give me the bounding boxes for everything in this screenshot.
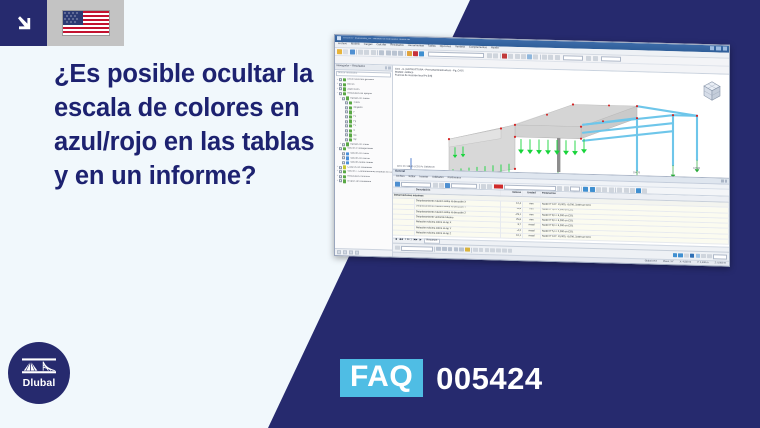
results-table-panel: General Archivo Editar Insertar Utilidad… — [393, 169, 729, 252]
status-icon-line6[interactable] — [502, 248, 507, 253]
poster-canvas: ¿Es posible ocultar la escala de colores… — [0, 0, 760, 428]
tree-item-icon — [346, 143, 349, 146]
results-grid[interactable]: DescripciónValoresUnidadParámetrosDeform… — [393, 188, 729, 247]
table-icon-print[interactable] — [617, 187, 622, 192]
menu-item-ventana[interactable]: Ventana — [455, 46, 465, 49]
toolbar-separator — [377, 50, 378, 55]
table-icon-results-type[interactable] — [395, 181, 400, 186]
status-coord-y: Y: 2,400 m — [697, 262, 708, 265]
status-icon-ortho[interactable] — [448, 247, 453, 252]
table-icon-last[interactable] — [487, 184, 492, 189]
table-cell[interactable] — [393, 215, 415, 220]
table-menu-parametros[interactable]: Parámetros — [448, 177, 461, 180]
toolbar-icon-snap[interactable] — [386, 50, 391, 55]
table-cell[interactable]: 3,7 — [501, 223, 523, 228]
menu-item-complementos[interactable]: Complementos — [469, 46, 487, 49]
tree-item-icon — [349, 138, 352, 141]
toolbar-icon-save[interactable] — [350, 49, 355, 54]
status-icon-line5[interactable] — [496, 248, 501, 253]
table-cell[interactable]: 12,4 — [501, 202, 523, 207]
tree-checkbox[interactable] — [339, 147, 342, 150]
tab-model-icon[interactable] — [337, 250, 342, 255]
tree-item-icon — [349, 111, 352, 114]
menu-item-herramientas[interactable]: Herramientas — [408, 45, 424, 48]
status-icon-line3[interactable] — [485, 248, 490, 253]
tree-checkbox[interactable] — [345, 138, 348, 141]
tab-results-icon[interactable] — [349, 250, 354, 255]
pager-position: 1 de 1 — [405, 239, 412, 242]
toolbar-icon-sections[interactable] — [527, 54, 532, 59]
toolbar-icon-zoom-in[interactable] — [542, 54, 547, 59]
tree-item-label: P — [353, 111, 355, 114]
tab-views-icon[interactable] — [355, 250, 360, 255]
tree-item-label: Valores en nudos — [350, 152, 369, 155]
table-load-case-badge[interactable] — [494, 184, 503, 189]
navigator-panel-controls[interactable] — [385, 66, 391, 69]
navigator-tree-item[interactable]: +Grupos de resultados — [336, 179, 392, 185]
status-plane: Plano: XY — [663, 261, 674, 264]
status-icon-render2[interactable] — [678, 253, 683, 258]
table-cell[interactable]: mrad — [523, 224, 541, 229]
arrow-down-right-badge — [0, 0, 47, 46]
tree-checkbox[interactable] — [339, 92, 342, 95]
tree-item-label: Grupos de resultados — [347, 180, 371, 183]
tree-item-icon — [349, 101, 352, 104]
navigator-footer-tabs[interactable] — [335, 248, 392, 257]
load-case-combo[interactable] — [428, 51, 484, 58]
status-icon-guides[interactable] — [459, 247, 464, 252]
tree-checkbox[interactable] — [345, 129, 348, 132]
column-header[interactable]: Unidad — [523, 191, 541, 196]
toolbar-separator — [405, 51, 406, 56]
pager-next[interactable]: ▶▶ — [414, 240, 418, 243]
tree-item-icon — [349, 120, 352, 123]
table-factor-input[interactable] — [570, 186, 580, 191]
badge-row — [0, 0, 124, 46]
tree-item-label: M — [353, 130, 355, 133]
window-controls[interactable] — [710, 46, 728, 50]
flag-usa-icon — [62, 10, 110, 36]
tree-checkbox[interactable] — [342, 161, 345, 164]
table-cell[interactable]: mm — [523, 218, 541, 223]
tree-item-label: Apoyos en nudos — [350, 97, 369, 100]
table-icon-sort[interactable] — [596, 187, 601, 192]
close-button[interactable] — [723, 47, 728, 51]
workspace: Navegador – Resultados Buscar resultados… — [335, 64, 729, 266]
tree-item-icon — [343, 170, 346, 173]
table-cell[interactable] — [393, 225, 415, 230]
toolbar-separator — [581, 186, 582, 191]
faq-identifier: FAQ 005424 — [340, 359, 543, 397]
table-icon-columns[interactable] — [602, 187, 607, 192]
column-header[interactable]: Valores — [501, 191, 523, 197]
tree-item-label: Apoyos en líneas — [350, 143, 369, 146]
tree-checkbox[interactable] — [345, 111, 348, 114]
tab-loads-icon[interactable] — [343, 250, 348, 255]
tree-checkbox[interactable] — [342, 97, 345, 100]
view-cube-icon[interactable] — [699, 78, 725, 106]
table-icon-delete[interactable] — [630, 188, 635, 193]
tree-item-label: Todos — [353, 102, 360, 105]
tree-checkbox[interactable] — [339, 78, 342, 81]
toolbar-icon-color-scale[interactable] — [515, 54, 520, 59]
toolbar-separator — [434, 246, 435, 251]
toolbar-icon-results[interactable] — [413, 51, 418, 56]
tree-checkbox[interactable] — [345, 115, 348, 118]
status-icon-line2[interactable] — [479, 248, 484, 253]
table-menu-archivo[interactable]: Archivo — [396, 176, 405, 179]
tree-item-icon — [349, 115, 352, 118]
coordinate-system-combo[interactable] — [401, 245, 433, 251]
tree-item-icon — [349, 124, 352, 127]
tree-item-label: Mx — [353, 134, 356, 137]
tree-checkbox[interactable] — [339, 88, 342, 91]
menu-item-tablas[interactable]: Tablas — [428, 45, 436, 48]
toolbar-separator — [540, 54, 541, 59]
language-flag-badge[interactable] — [47, 0, 124, 46]
pager-first[interactable]: ◀ — [395, 239, 397, 242]
software-screenshot: RFEM 6 - Estructura_01 - Modelo de estru… — [334, 34, 730, 267]
table-cell[interactable] — [393, 204, 415, 209]
table-cell[interactable] — [393, 220, 415, 225]
column-header[interactable] — [393, 188, 415, 194]
status-icon-line1[interactable] — [473, 247, 478, 252]
status-icon-render3[interactable] — [684, 253, 689, 258]
table-cell[interactable]: mm — [523, 202, 541, 207]
tree-item-icon — [346, 161, 349, 164]
table-group-combo[interactable] — [451, 183, 477, 189]
toolbar-icon-zoom-fit[interactable] — [555, 55, 560, 60]
table-icon-export[interactable] — [609, 187, 614, 192]
table-icon-case-next[interactable] — [564, 186, 569, 191]
table-cell[interactable]: mm — [523, 208, 541, 213]
toolbar-icon-prev-case[interactable] — [487, 53, 492, 58]
tree-item-icon — [343, 166, 346, 169]
status-icon-render7[interactable] — [707, 254, 712, 259]
result-label-2: 104,75 — [633, 172, 640, 175]
status-coord-x: X: 4,500 m — [680, 261, 692, 264]
status-cs-label: Global XYZ — [645, 260, 657, 263]
tree-item-icon — [349, 106, 352, 109]
status-icon-objsnap[interactable] — [454, 247, 459, 252]
navigator-tree[interactable]: +Deformaciones globales+Barras+Superfici… — [335, 77, 392, 250]
tree-item-label: Superficies — [347, 88, 359, 91]
maximize-button[interactable] — [716, 47, 721, 51]
menu-item-cargas[interactable]: Cargas — [364, 43, 373, 46]
model-viewport[interactable]: CO1 - G | ESTRUCTURA - Permanente/estruc… — [393, 66, 729, 178]
tree-checkbox[interactable] — [339, 179, 342, 182]
tree-item-icon — [343, 175, 346, 178]
tree-item-icon — [343, 179, 346, 182]
pin-icon[interactable] — [721, 179, 724, 182]
status-icon-line4[interactable] — [490, 248, 495, 253]
status-coord-z: Z: 0,000 m — [715, 262, 726, 265]
tree-checkbox[interactable] — [342, 157, 345, 160]
table-icon-group[interactable] — [445, 183, 450, 188]
status-icon-grid[interactable] — [442, 247, 447, 252]
table-menu-insertar[interactable]: Insertar — [419, 177, 428, 180]
toolbar-icon-undo[interactable] — [364, 50, 369, 55]
arrow-down-right-icon — [12, 11, 36, 35]
toolbar-icon-calculate[interactable] — [407, 51, 412, 56]
table-cell[interactable]: Rotación máxima sobre el eje Z — [415, 231, 501, 238]
toolbar-icon-grid[interactable] — [379, 50, 384, 55]
pager-prev[interactable]: ◀◀ — [399, 239, 403, 242]
tree-item-icon — [343, 83, 346, 86]
tree-item-icon — [349, 129, 352, 132]
table-panel-title: General — [395, 170, 405, 173]
tree-checkbox[interactable] — [339, 166, 342, 169]
tree-checkbox[interactable] — [345, 120, 348, 123]
table-cell[interactable]: 25,6 — [501, 218, 523, 223]
tree-checkbox[interactable] — [345, 125, 348, 128]
tree-checkbox[interactable] — [342, 152, 345, 155]
table-cell[interactable]: 10,1 — [501, 234, 523, 239]
pager-last[interactable]: ▶ — [420, 240, 422, 243]
toolbar-icon-next-case[interactable] — [493, 53, 498, 58]
status-icon-plane[interactable] — [465, 247, 470, 252]
table-cell[interactable] — [393, 199, 415, 204]
rfem-app-icon — [337, 36, 341, 40]
faq-tag: FAQ — [340, 359, 423, 397]
dlubal-wordmark: Dlubal — [23, 377, 56, 389]
tree-item-icon — [346, 157, 349, 160]
tree-checkbox[interactable] — [345, 102, 348, 105]
dlubal-logo: Dlubal — [8, 342, 70, 404]
tree-checkbox[interactable] — [339, 83, 342, 86]
table-icon-case-prev[interactable] — [557, 186, 562, 191]
close-icon[interactable] — [388, 66, 391, 69]
tree-item-icon — [349, 134, 352, 137]
navigator-panel: Navegador – Resultados Buscar resultados… — [335, 64, 393, 257]
table-icon-filter[interactable] — [590, 186, 595, 191]
toolbar-icon-filter[interactable] — [533, 54, 538, 59]
tree-item-icon — [343, 88, 346, 91]
toolbar-separator — [500, 53, 501, 58]
tree-checkbox[interactable] — [339, 175, 342, 178]
tree-checkbox[interactable] — [345, 106, 348, 109]
toolbar-separator — [479, 183, 480, 188]
navigator-search-placeholder: Buscar resultados — [338, 72, 357, 75]
table-cell[interactable]: -23,1 — [501, 212, 523, 217]
table-load-case-combo[interactable] — [504, 184, 556, 190]
table-cell[interactable]: mrad — [523, 234, 541, 239]
menu-item-opciones[interactable]: Opciones — [440, 45, 451, 48]
viewport-caption: CO1 - G | ESTRUCTURA - Permanente/estruc… — [395, 67, 464, 78]
table-results-combo[interactable] — [401, 181, 431, 187]
view-combo[interactable] — [601, 56, 621, 62]
toolbar-separator — [471, 247, 472, 252]
tree-item-label: Valores en barras — [350, 157, 370, 160]
table-icon-prev[interactable] — [433, 182, 438, 187]
table-icon-first[interactable] — [481, 183, 486, 188]
table-cell[interactable]: -4,2 — [501, 228, 523, 233]
pin-icon[interactable] — [385, 66, 388, 69]
toolbar-icon-values[interactable] — [521, 54, 526, 59]
toolbar-separator — [615, 187, 616, 192]
tree-item-label: Ninguno — [353, 107, 362, 110]
tree-item-icon — [343, 147, 346, 150]
table-cell[interactable]: -9,8 — [501, 207, 523, 212]
status-icon-snap[interactable] — [436, 246, 441, 251]
scale-combo[interactable] — [563, 55, 583, 61]
table-menu-utilidades[interactable]: Utilidades — [432, 177, 443, 180]
tree-checkbox[interactable] — [342, 143, 345, 146]
tree-item-icon — [346, 97, 349, 100]
menu-item-modelo[interactable]: Modelo — [351, 43, 360, 46]
table-icon-color-scale[interactable] — [583, 186, 588, 191]
status-icon-render6[interactable] — [701, 254, 706, 259]
window-title: RFEM 6 - Estructura_01 - Modelo de estru… — [343, 37, 410, 42]
table-cell[interactable] — [393, 209, 415, 214]
menu-item-calcular[interactable]: Calcular — [376, 44, 386, 47]
toolbar-icon-print[interactable] — [358, 49, 363, 54]
table-cell[interactable] — [393, 231, 415, 236]
tree-item-icon — [343, 78, 346, 81]
dlubal-bridge-icon — [21, 357, 57, 376]
toolbar-icon-render[interactable] — [398, 50, 403, 55]
toolbar-icon-iso[interactable] — [508, 53, 513, 58]
zoom-level-combo[interactable] — [713, 254, 727, 259]
status-icon-render1[interactable] — [673, 253, 678, 258]
table-panel-controls[interactable] — [721, 179, 727, 182]
toolbar-icon-redo[interactable] — [371, 50, 376, 55]
status-icon-cs[interactable] — [395, 245, 400, 250]
status-icon-render4[interactable] — [690, 253, 695, 258]
table-cell[interactable]: mm — [523, 213, 541, 218]
toolbar-icon-report[interactable] — [419, 51, 424, 56]
table-cell[interactable]: mrad — [523, 229, 541, 234]
close-icon[interactable] — [725, 180, 728, 183]
toolbar-icon-zoom-out[interactable] — [548, 55, 553, 60]
table-icon-next[interactable] — [439, 182, 444, 187]
work-column: CO1 - G | ESTRUCTURA - Permanente/estruc… — [393, 66, 729, 266]
tree-item-label: Px — [353, 116, 356, 119]
tree-item-icon — [346, 152, 349, 155]
tree-item-icon — [343, 92, 346, 95]
navigator-title: Navegador – Resultados — [337, 65, 366, 68]
table-icon-copy[interactable] — [624, 187, 629, 192]
toolbar-icon-new[interactable] — [337, 49, 342, 54]
result-label-3: 122,80 — [693, 168, 700, 171]
tree-item-label: Pz — [353, 125, 356, 128]
faq-number: 005424 — [436, 363, 542, 394]
tree-item-label: My — [353, 139, 356, 142]
toolbar-icon-layers[interactable] — [392, 50, 397, 55]
tree-item-label: Barras — [347, 83, 354, 86]
toolbar-icon-pan[interactable] — [593, 56, 598, 61]
toolbar-icon-deformation[interactable] — [502, 53, 507, 58]
minimize-button[interactable] — [710, 46, 715, 50]
table-icon-settings[interactable] — [636, 188, 641, 193]
status-icon-render5[interactable] — [696, 253, 701, 258]
menu-item-ayuda[interactable]: Ayuda — [491, 47, 499, 50]
toolbar-separator — [356, 49, 357, 54]
tree-item-label: Resultados mínimos — [347, 175, 370, 178]
toolbar-icon-rotate[interactable] — [586, 56, 591, 61]
page-title: ¿Es posible ocultar la escala de colores… — [54, 58, 316, 194]
toolbar-icon-open[interactable] — [343, 49, 348, 54]
status-icon-line7[interactable] — [508, 248, 513, 253]
menu-item-resultados[interactable]: Resultados — [390, 44, 403, 47]
structure-3d-render — [397, 78, 729, 178]
rfem-window: RFEM 6 - Estructura_01 - Modelo de estru… — [334, 34, 730, 267]
tree-item-label: Py — [353, 120, 356, 123]
table-menu-editar[interactable]: Editar — [409, 176, 416, 179]
table-icon-help[interactable] — [642, 188, 647, 193]
tree-checkbox[interactable] — [345, 134, 348, 137]
menu-item-archivo[interactable]: Archivo — [338, 43, 347, 46]
tree-checkbox[interactable] — [339, 170, 342, 173]
statusbar-spacer — [514, 251, 672, 255]
